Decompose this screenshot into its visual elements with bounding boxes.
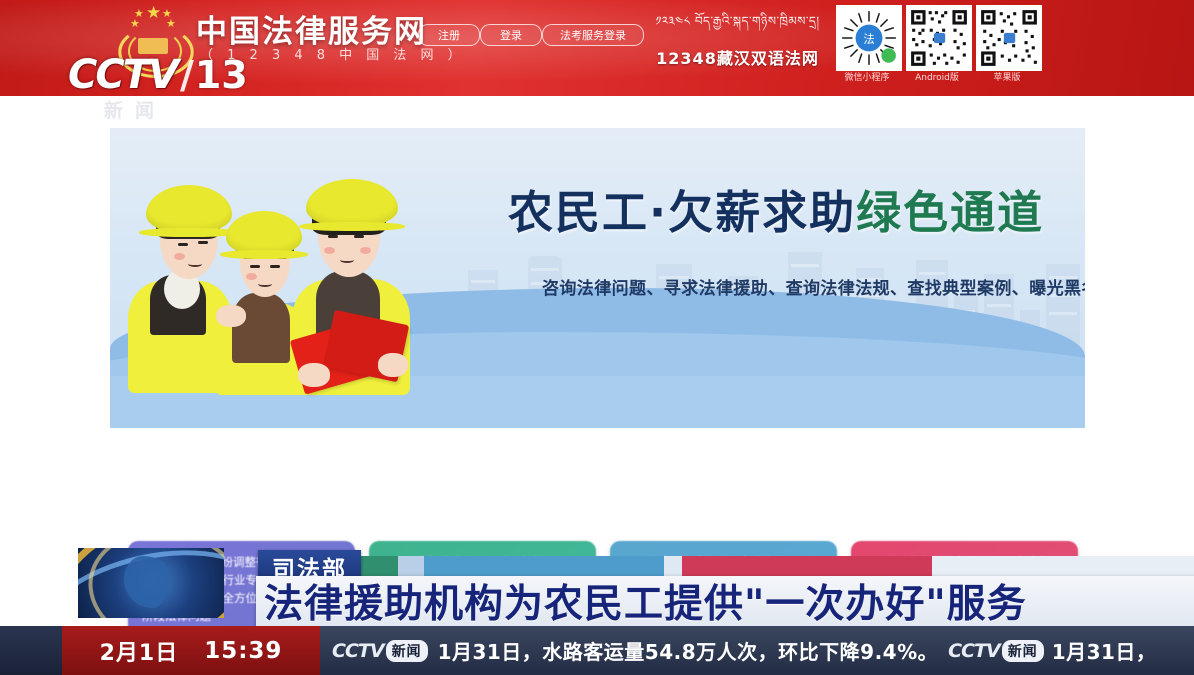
banner-subtitle: 咨询法律问题、寻求法律援助、查询法律法规、查找典型案例、曝光黑名单 [508,276,1085,303]
cctv-news-wordmark: CCTV [332,640,384,662]
construction-workers-illustration [120,177,410,392]
cctv-news-wordmark-repeat: CCTV [948,640,1000,662]
ticker-tail: CCTV 新闻 1月31日， [948,636,1162,665]
qr-ios[interactable] [976,5,1042,71]
ticker-text: 1月31日，水路客运量54.8万人次，环比下降9.4%。 [438,636,939,665]
svg-text:法: 法 [863,32,874,46]
qr-ios-icon [978,7,1040,69]
register-button[interactable]: 注册 [418,24,480,46]
banner-title-part1: 农民工 [508,186,649,239]
banner-title: 农民工·欠薪求助绿色通道 [508,176,1044,241]
qr-android-icon [908,7,970,69]
qr-wechat-miniprogram[interactable]: 法 [836,5,902,71]
news-globe-icon [78,548,224,618]
banner-title-green: 绿色通道 [856,186,1044,239]
broadcast-screen: ★ ★ ★ ★ ★ 中国法律服务网 （ 1 2 3 4 8 中 国 法 网 ） … [0,0,1194,675]
qr-android-label: Android版 [904,70,970,83]
cctv-news-logo-repeat: CCTV 新闻 [948,640,1044,662]
tibetan-script-line: ༡༢༣༤༨ བོད་རྒྱའི་སྐད་གཉིས་ཁྲིམས་དྲ། [640,8,835,42]
news-ticker: 2月1日 15:39 CCTV 新闻 1月31日，水路客运量54.8万人次，环比… [0,626,1194,675]
login-button[interactable]: 登录 [480,24,542,46]
ticker-datetime: 2月1日 15:39 [62,626,320,675]
cctv-news-badge-repeat: 新闻 [1002,640,1044,662]
headline-text: 法律援助机构为农民工提供"一次办好"服务 [256,573,1027,629]
ticker-tail-text: 1月31日， [1052,636,1157,665]
ticker-date: 2月1日 [100,635,179,667]
qr-wechat-label: 微信小程序 [834,70,900,83]
tibetan-chinese-line: 12348藏汉双语法网 [640,45,835,69]
cctv-slash: / [180,53,194,97]
cctv-wordmark: CCTV [68,52,177,98]
cctv13-logo: CCTV / 13 [68,52,248,98]
banner-title-dot: · [649,186,668,239]
banner-title-part2: 欠薪求助 [668,186,856,239]
tibetan-bilingual-label: ༡༢༣༤༨ བོད་རྒྱའི་སྐད་གཉིས་ཁྲིམས་དྲ། 12348… [640,8,835,69]
ticker-time: 15:39 [204,638,282,664]
lower-third: 司法部 法律援助机构为农民工提供"一次办好"服务 [0,548,1194,626]
green-channel-banner: 农民工·欠薪求助绿色通道 咨询法律问题、寻求法律援助、查询法律法规、查找典型案例… [110,128,1085,428]
headline-bar: 法律援助机构为农民工提供"一次办好"服务 [256,576,1194,626]
cctv-news-logo: CCTV 新闻 [332,640,428,662]
cctv-channel-subtitle: 新闻 [104,96,166,123]
qr-android[interactable] [906,5,972,71]
cctv-news-badge: 新闻 [386,640,428,662]
ticker-body: CCTV 新闻 1月31日，水路客运量54.8万人次，环比下降9.4%。 CCT… [320,626,1194,675]
qr-wechat-miniprogram-icon: 法 [838,7,900,69]
cctv-channel-number: 13 [195,53,248,97]
qr-ios-label: 苹果版 [974,70,1040,83]
exam-service-login-button[interactable]: 法考服务登录 [542,24,644,46]
